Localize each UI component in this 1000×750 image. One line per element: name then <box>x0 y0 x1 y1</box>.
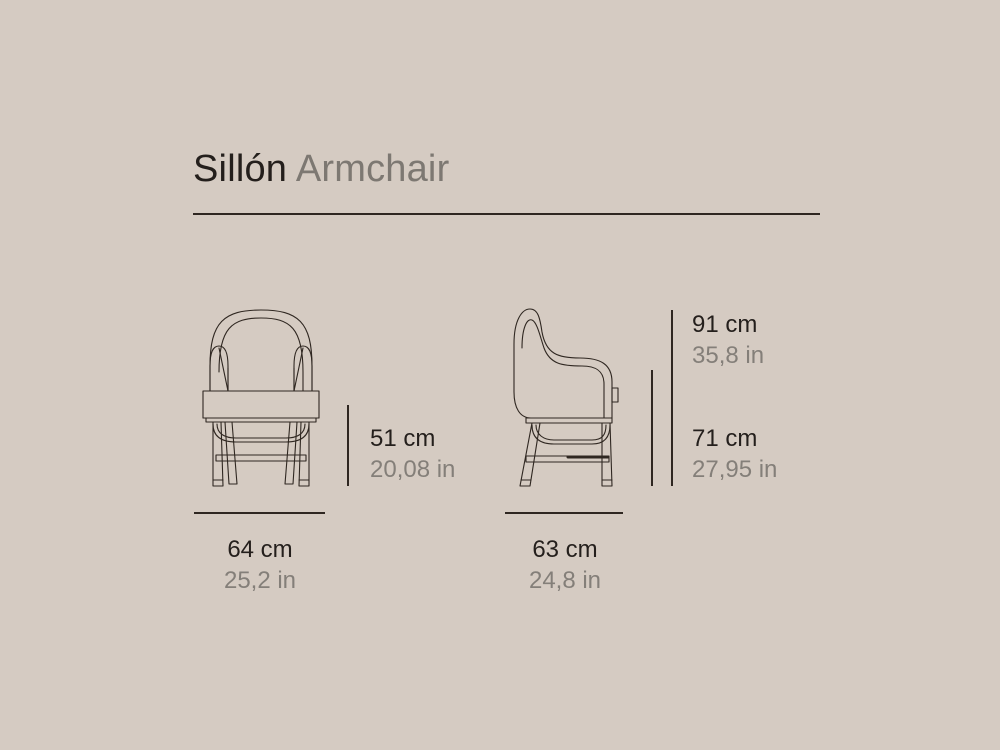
total-height-in: 35,8 in <box>692 340 764 371</box>
front-view-drawing <box>186 296 336 506</box>
seat-height-cm: 51 cm <box>370 423 455 454</box>
front-width-cm: 64 cm <box>180 534 340 565</box>
seat-height-in: 20,08 in <box>370 454 455 485</box>
total-height-dimension-line <box>671 310 673 486</box>
back-height-in: 27,95 in <box>692 454 777 485</box>
side-width-label: 63 cm 24,8 in <box>485 534 645 596</box>
front-width-in: 25,2 in <box>180 565 340 596</box>
seat-height-label: 51 cm 20,08 in <box>370 423 455 485</box>
spec-sheet: Sillón Armchair <box>0 0 1000 750</box>
total-height-cm: 91 cm <box>692 309 764 340</box>
seat-height-dimension-line <box>347 405 349 486</box>
side-width-cm: 63 cm <box>485 534 645 565</box>
title-secondary: Armchair <box>296 148 450 190</box>
page-title: Sillón Armchair <box>193 146 823 192</box>
front-width-label: 64 cm 25,2 in <box>180 534 340 596</box>
total-height-label: 91 cm 35,8 in <box>692 309 764 371</box>
title-divider <box>193 213 820 215</box>
back-height-label: 71 cm 27,95 in <box>692 423 777 485</box>
side-width-in: 24,8 in <box>485 565 645 596</box>
side-view-drawing <box>496 296 646 506</box>
back-height-dimension-line <box>651 370 653 486</box>
side-width-dimension-line <box>505 512 623 514</box>
title-primary: Sillón <box>193 148 287 190</box>
back-height-cm: 71 cm <box>692 423 777 454</box>
front-width-dimension-line <box>194 512 325 514</box>
